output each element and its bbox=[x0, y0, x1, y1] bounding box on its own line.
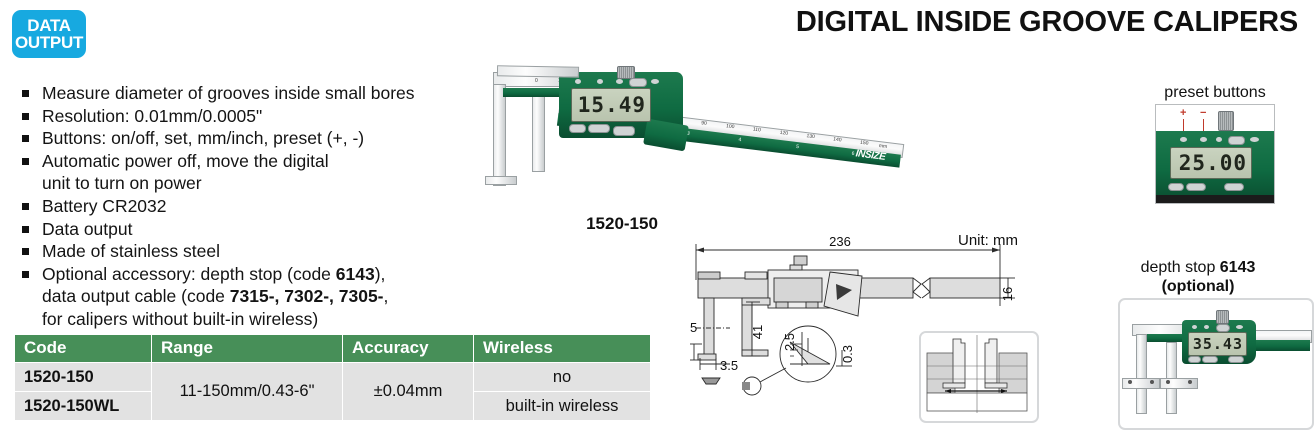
scale-tick-150: 150 bbox=[860, 140, 869, 147]
data-out-button[interactable] bbox=[1250, 137, 1259, 142]
cell-wireless-1: no bbox=[474, 363, 651, 392]
origin-button[interactable] bbox=[1228, 356, 1244, 363]
data-output-badge: DATA OUTPUT bbox=[12, 10, 86, 58]
origin-button[interactable] bbox=[1224, 183, 1244, 191]
feature-text: Automatic power off, move the digital bbox=[42, 150, 470, 173]
scale-inch-4: 4 bbox=[738, 137, 741, 143]
bullet-square-icon bbox=[22, 113, 29, 120]
preset-marker-area bbox=[1156, 105, 1274, 133]
scale-tick-130: 130 bbox=[806, 133, 815, 140]
data-out-button[interactable] bbox=[1236, 325, 1243, 329]
list-item: Buttons: on/off, set, mm/inch, preset (+… bbox=[20, 127, 470, 150]
table-row: 1520-150 11-150mm/0.43-6" ±0.04mm no bbox=[15, 363, 651, 392]
bullet-square-icon bbox=[22, 203, 29, 210]
scale-unit-mm: mm bbox=[878, 143, 887, 150]
optional-accessory-text: Optional accessory: depth stop (code bbox=[42, 264, 336, 284]
depth-stop-inset: 35.43 bbox=[1118, 298, 1314, 430]
preset-plus-button[interactable] bbox=[1180, 137, 1187, 142]
cell-range: 11-150mm/0.43-6" bbox=[152, 363, 343, 421]
depthstop-jaw-left bbox=[1136, 334, 1147, 414]
bullet-square-icon bbox=[22, 135, 29, 142]
cell-code-2: 1520-150WL bbox=[15, 392, 152, 421]
zero-button[interactable] bbox=[588, 124, 610, 133]
product-catalog-page: DATA OUTPUT DIGITAL INSIDE GROOVE CALIPE… bbox=[0, 0, 1314, 446]
on-off-button[interactable] bbox=[1188, 356, 1201, 363]
depthstop-lcd-value: 35.43 bbox=[1193, 335, 1243, 353]
preset-minus-sign: − bbox=[1200, 107, 1206, 119]
list-item: Data output bbox=[20, 218, 470, 241]
feature-text-line3: for calipers without built-in wireless) bbox=[42, 308, 470, 331]
depth-stop-caption-code: 6143 bbox=[1220, 259, 1256, 276]
feature-text: Buttons: on/off, set, mm/inch, preset (+… bbox=[42, 127, 470, 150]
preset-minus-button[interactable] bbox=[597, 79, 603, 84]
preset-thumb-wheel[interactable] bbox=[1218, 111, 1234, 131]
depth-stop-screw-1 bbox=[1128, 380, 1132, 384]
zero-button[interactable] bbox=[1202, 356, 1218, 363]
depth-stop-screw-3 bbox=[1166, 380, 1170, 384]
caliper-upper-rail bbox=[497, 65, 579, 77]
list-item: Automatic power off, move the digital un… bbox=[20, 150, 470, 195]
mm-inch-button[interactable] bbox=[1216, 137, 1222, 142]
feature-text: Made of stainless steel bbox=[42, 240, 470, 263]
list-item: Resolution: 0.01mm/0.0005" bbox=[20, 105, 470, 128]
feature-text-line2: unit to turn on power bbox=[42, 172, 470, 195]
cell-code-1: 1520-150 bbox=[15, 363, 152, 392]
column-header-accuracy: Accuracy bbox=[343, 335, 474, 363]
preset-buttons-caption: preset buttons bbox=[1120, 84, 1310, 102]
dim-jaw-tip-width: 5 bbox=[690, 320, 697, 335]
preset-plus-button[interactable] bbox=[575, 79, 581, 84]
scale-inch-6: 6 bbox=[851, 151, 854, 157]
origin-button[interactable] bbox=[613, 126, 635, 136]
cable-text-after: , bbox=[384, 286, 389, 306]
dim-overall-length: 236 bbox=[829, 234, 851, 249]
list-item: Measure diameter of grooves inside small… bbox=[20, 82, 470, 105]
list-item: Made of stainless steel bbox=[20, 240, 470, 263]
scale-label-0: 0 bbox=[535, 78, 538, 84]
feature-text: Data output bbox=[42, 218, 470, 241]
feature-text-line2: data output cable (code 7315-, 7302-, 73… bbox=[42, 285, 470, 308]
caliper-jaw-foot-left bbox=[485, 176, 517, 185]
dim-jaw-depth: 41 bbox=[750, 325, 765, 339]
lcd-display: 15.49 bbox=[571, 88, 651, 122]
zero-button[interactable] bbox=[1186, 183, 1206, 191]
groove-application-inset bbox=[919, 331, 1039, 423]
cable-codes: 7315-, 7302-, 7305- bbox=[230, 286, 384, 306]
bullet-square-icon bbox=[22, 248, 29, 255]
bullet-square-icon bbox=[22, 158, 29, 165]
depth-stop-screw-4 bbox=[1188, 380, 1192, 384]
mm-inch-button[interactable] bbox=[616, 79, 623, 84]
column-header-code: Code bbox=[15, 335, 152, 363]
feature-text: Resolution: 0.01mm/0.0005" bbox=[42, 105, 470, 128]
dim-beam-height: 16 bbox=[1000, 287, 1015, 301]
cell-accuracy: ±0.04mm bbox=[343, 363, 474, 421]
scale-tick-140: 140 bbox=[833, 136, 842, 143]
cell-wireless-2: built-in wireless bbox=[474, 392, 651, 421]
dim-jaw-offset: 3.5 bbox=[720, 358, 738, 373]
feature-list: Measure diameter of grooves inside small… bbox=[20, 82, 470, 331]
set-button[interactable] bbox=[1228, 136, 1245, 145]
bullet-square-icon bbox=[22, 226, 29, 233]
page-title: DIGITAL INSIDE GROOVE CALIPERS bbox=[796, 6, 1298, 39]
feature-text: Optional accessory: depth stop (code 614… bbox=[42, 263, 470, 286]
feature-text: Measure diameter of grooves inside small… bbox=[42, 82, 470, 105]
preset-buttons-inset: + − 25.00 bbox=[1155, 104, 1275, 204]
preset-minus-button[interactable] bbox=[1200, 137, 1207, 142]
optional-accessory-text-after: ), bbox=[375, 264, 386, 284]
scale-tick-120: 120 bbox=[779, 130, 788, 137]
table-header-row: Code Range Accuracy Wireless bbox=[15, 335, 651, 363]
on-off-button[interactable] bbox=[1168, 183, 1184, 191]
badge-line-2: OUTPUT bbox=[15, 34, 83, 51]
preset-plus-sign: + bbox=[1180, 107, 1186, 119]
badge-line-1: DATA bbox=[27, 17, 71, 34]
specification-table: Code Range Accuracy Wireless 1520-150 11… bbox=[14, 334, 651, 421]
dim-detail-height: 2.5 bbox=[782, 333, 797, 351]
main-product-photo: 0 10 80 90 100 110 120 130 140 150 mm 3 … bbox=[485, 58, 905, 208]
lcd-value: 15.49 bbox=[578, 93, 646, 117]
depth-stop-caption: depth stop 6143 (optional) bbox=[1088, 258, 1308, 296]
bullet-square-icon bbox=[22, 90, 29, 97]
scale-inch-5: 5 bbox=[796, 144, 799, 150]
preset-lcd-value: 25.00 bbox=[1179, 151, 1247, 175]
list-item: Optional accessory: depth stop (code 614… bbox=[20, 263, 470, 331]
dim-detail-tip: 0.3 bbox=[840, 345, 855, 363]
data-out-button[interactable] bbox=[651, 79, 659, 84]
set-button[interactable] bbox=[1216, 324, 1230, 332]
scale-tick-100: 100 bbox=[726, 123, 735, 130]
scale-tick-90: 90 bbox=[701, 120, 707, 127]
preset-shadow-bar bbox=[1156, 195, 1274, 204]
groove-application-svg bbox=[921, 333, 1033, 417]
depth-stop-screw-2 bbox=[1150, 380, 1154, 384]
depthstop-beam-green bbox=[1248, 340, 1310, 351]
depth-stop-caption-text: depth stop bbox=[1141, 259, 1220, 276]
cable-text: data output cable (code bbox=[42, 286, 230, 306]
depth-stop-optional-label: (optional) bbox=[1162, 278, 1235, 295]
list-item: Battery CR2032 bbox=[20, 195, 470, 218]
main-photo-caption: 1520-150 bbox=[522, 214, 722, 234]
scale-tick-110: 110 bbox=[753, 127, 762, 134]
caliper-jaw-leg-right bbox=[532, 94, 545, 172]
caliper-jaw-leg-left bbox=[493, 84, 506, 186]
column-header-wireless: Wireless bbox=[474, 335, 651, 363]
bullet-square-icon bbox=[22, 271, 29, 278]
preset-plus-button[interactable] bbox=[1192, 325, 1197, 329]
set-button[interactable] bbox=[629, 78, 647, 87]
preset-minus-button[interactable] bbox=[1204, 325, 1209, 329]
preset-lcd-display: 25.00 bbox=[1170, 147, 1252, 179]
column-header-range: Range bbox=[152, 335, 343, 363]
depthstop-lcd-display: 35.43 bbox=[1188, 332, 1247, 356]
depthstop-thumb-wheel[interactable] bbox=[1216, 310, 1229, 324]
caliper-digital-head: 15.49 bbox=[559, 66, 687, 148]
depth-stop-code: 6143 bbox=[336, 264, 375, 284]
on-off-button[interactable] bbox=[569, 124, 586, 133]
feature-text: Battery CR2032 bbox=[42, 195, 470, 218]
